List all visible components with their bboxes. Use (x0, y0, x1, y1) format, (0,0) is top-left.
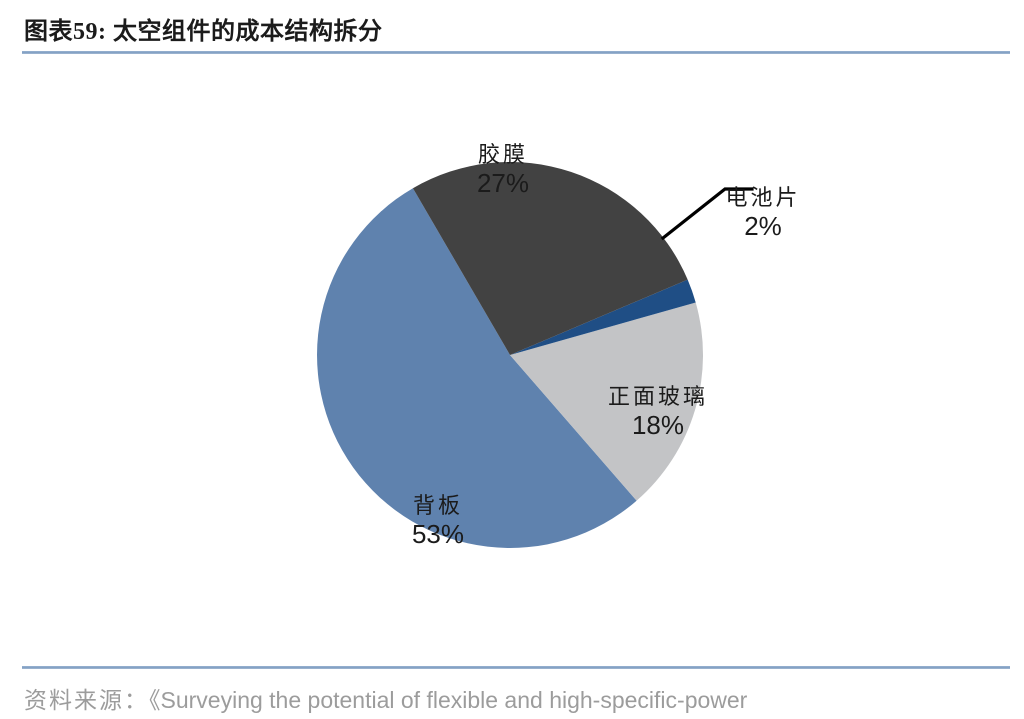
source-note-prefix: 资料来源： (24, 688, 149, 713)
footer-divider (22, 666, 1010, 669)
page-title: 图表59: 太空组件的成本结构拆分 (24, 11, 383, 46)
pie-label-film: 胶膜 27% (398, 142, 608, 199)
pie-label-solar-cell: 电池片 2% (668, 185, 858, 242)
pie-label-backsheet-value: 53% (348, 519, 528, 550)
pie-label-front-glass-value: 18% (568, 410, 748, 441)
pie-label-film-name: 胶膜 (398, 142, 608, 168)
pie-label-backsheet: 背板 53% (348, 493, 528, 550)
pie-label-film-value: 27% (398, 168, 608, 199)
title-divider (22, 51, 1010, 54)
source-note-text: 《Surveying the potential of flexible and… (149, 687, 747, 713)
pie-label-solar-cell-name: 电池片 (668, 185, 858, 211)
pie-label-front-glass-name: 正面玻璃 (568, 384, 748, 410)
pie-chart: 胶膜 27% 电池片 2% 正面玻璃 18% 背板 53% (0, 56, 1024, 662)
pie-label-solar-cell-value: 2% (668, 211, 858, 242)
pie-label-front-glass: 正面玻璃 18% (568, 384, 748, 441)
source-note: 资料来源：《Surveying the potential of flexibl… (24, 681, 747, 715)
pie-label-backsheet-name: 背板 (348, 493, 528, 519)
